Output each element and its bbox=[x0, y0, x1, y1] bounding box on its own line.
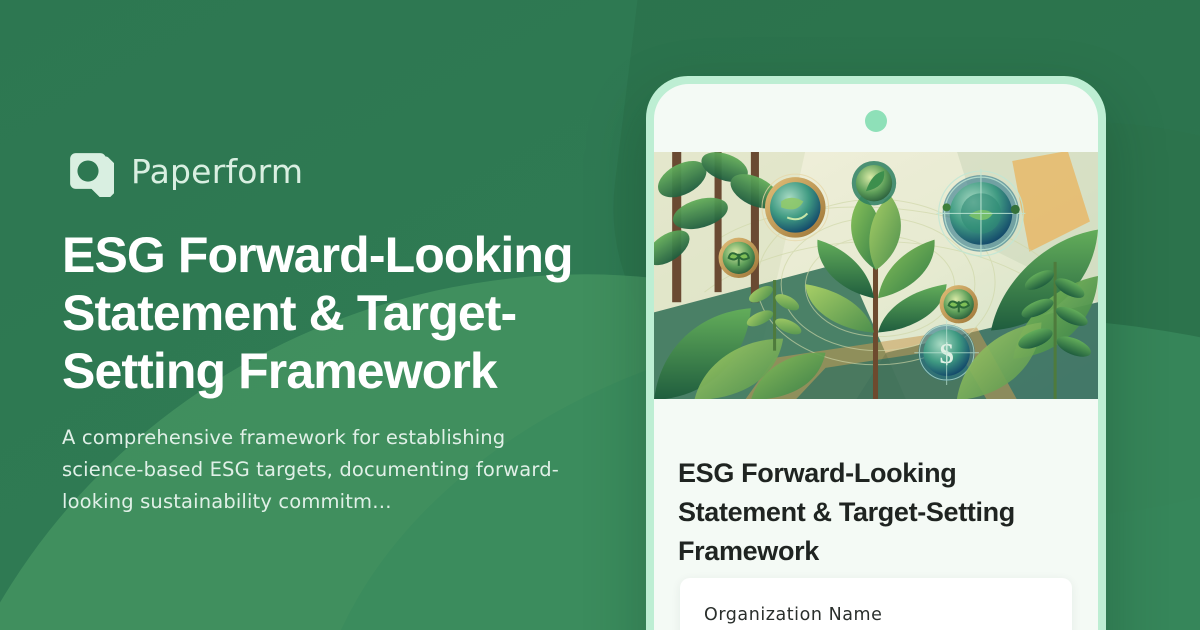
phone-screen: $ bbox=[654, 84, 1098, 630]
page-title: ESG Forward-Looking Statement & Target-S… bbox=[62, 226, 622, 400]
form-hero-image: $ bbox=[654, 152, 1098, 399]
left-content-panel: Paperform ESG Forward-Looking Statement … bbox=[62, 140, 622, 518]
brand-name: Paperform bbox=[131, 152, 303, 191]
globe-icon bbox=[762, 174, 829, 241]
page-description: A comprehensive framework for establishi… bbox=[62, 422, 577, 518]
brand-lockup: Paperform bbox=[62, 140, 622, 202]
phone-mockup: $ bbox=[646, 76, 1106, 630]
sprout-icon bbox=[940, 285, 978, 323]
organization-name-label: Organization Name bbox=[704, 605, 882, 625]
paperform-logo-icon bbox=[62, 145, 114, 197]
camera-dot-icon bbox=[865, 110, 887, 132]
og-image-canvas: Paperform ESG Forward-Looking Statement … bbox=[0, 0, 1200, 630]
leaf-icon bbox=[852, 161, 896, 205]
form-field-card[interactable]: Organization Name bbox=[680, 578, 1072, 630]
sprout-icon bbox=[719, 238, 759, 278]
form-title: ESG Forward-Looking Statement & Target-S… bbox=[678, 454, 1078, 571]
